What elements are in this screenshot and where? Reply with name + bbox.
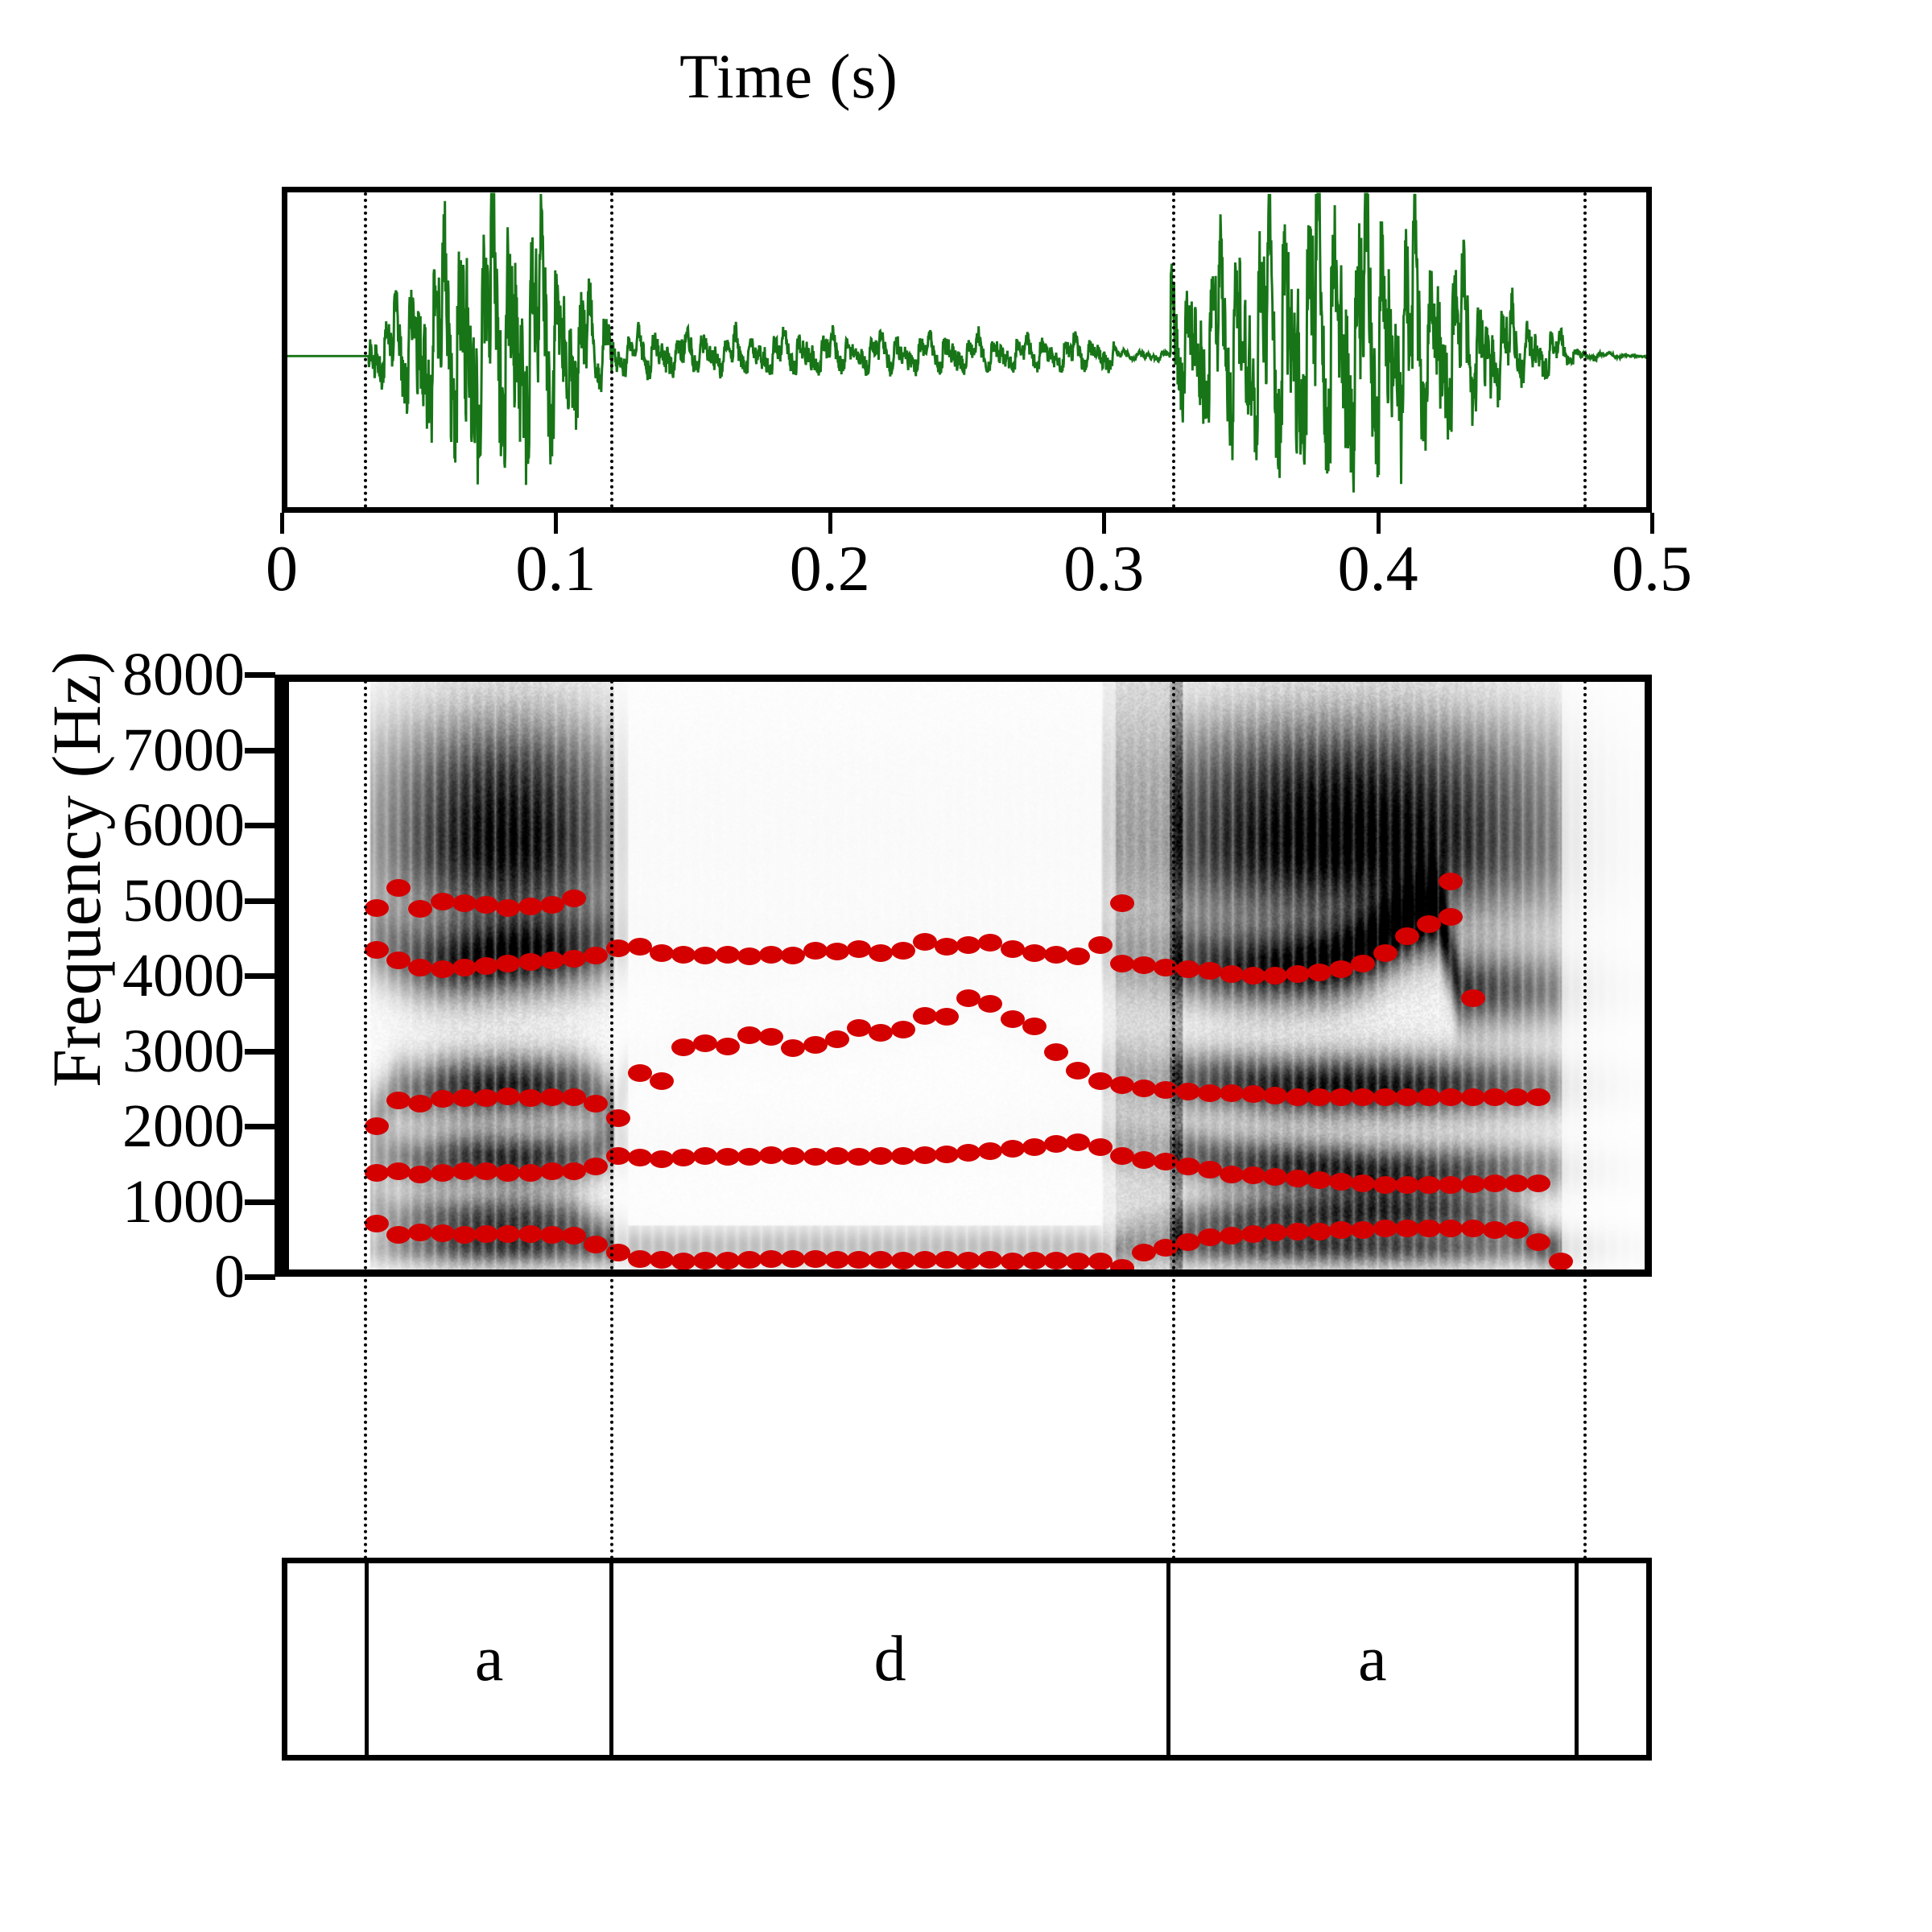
formant-point xyxy=(562,890,586,907)
frequency-tick xyxy=(245,1049,275,1055)
formant-point xyxy=(628,1149,652,1166)
time-tick xyxy=(1650,513,1654,534)
formant-point xyxy=(781,947,805,964)
formant-point xyxy=(1022,1018,1046,1035)
interval-boundary-line xyxy=(610,192,613,508)
formant-point xyxy=(562,1088,586,1106)
formant-point xyxy=(1198,1084,1222,1102)
frequency-tick-label: 5000 xyxy=(122,870,245,931)
formant-point xyxy=(386,952,411,969)
formant-point xyxy=(606,1244,630,1261)
formant-point xyxy=(496,955,520,972)
formant-point xyxy=(1132,1151,1156,1169)
formant-point xyxy=(913,1251,937,1269)
formant-point xyxy=(1263,967,1287,985)
time-tick xyxy=(1377,513,1381,534)
formant-point xyxy=(978,1142,1002,1160)
formant-point xyxy=(671,1253,696,1270)
formant-point xyxy=(1220,1227,1244,1245)
formant-point xyxy=(1066,1133,1090,1151)
formant-point xyxy=(1307,964,1331,981)
formant-point xyxy=(1526,1088,1550,1106)
frequency-axis-rule xyxy=(275,675,282,1277)
formant-point xyxy=(606,1147,630,1165)
waveform-trace xyxy=(287,194,1646,493)
formant-point xyxy=(671,1149,696,1166)
formant-point xyxy=(474,1089,498,1107)
formant-point xyxy=(1066,1253,1090,1270)
formant-point xyxy=(540,1226,564,1244)
formant-point xyxy=(803,1148,828,1166)
formant-point xyxy=(1307,1171,1331,1189)
textgrid-interval-empty[interactable] xyxy=(1579,1563,1646,1755)
formant-point xyxy=(540,952,564,969)
formant-point xyxy=(1001,940,1025,958)
formant-point xyxy=(1176,1083,1200,1100)
formant-point xyxy=(1286,1223,1310,1241)
formant-point xyxy=(431,893,455,910)
formant-point xyxy=(408,1166,432,1183)
formant-point xyxy=(716,946,740,964)
formant-point xyxy=(496,1088,520,1105)
formant-point xyxy=(1439,1220,1463,1237)
formant-point xyxy=(693,1252,717,1269)
formant-point xyxy=(1044,1252,1068,1269)
formant-point xyxy=(584,1095,608,1113)
formant-point xyxy=(474,896,498,914)
formant-point xyxy=(540,1088,564,1106)
formant-point xyxy=(759,946,783,964)
formant-point xyxy=(1022,1138,1046,1156)
formant-point xyxy=(1439,1176,1463,1194)
interval-boundary-line xyxy=(364,680,367,1560)
formant-point xyxy=(365,1215,389,1232)
formant-point xyxy=(1110,1076,1134,1094)
formant-point xyxy=(628,938,652,956)
formant-point xyxy=(1373,1220,1397,1237)
formant-point xyxy=(1439,1088,1463,1106)
formant-point xyxy=(1044,1135,1068,1153)
formant-point xyxy=(1241,1085,1265,1103)
formant-point xyxy=(913,1007,937,1025)
formant-point xyxy=(781,1039,805,1057)
formant-point xyxy=(474,1225,498,1243)
frequency-tick-label: 0 xyxy=(214,1246,245,1307)
formant-point xyxy=(1001,1010,1025,1028)
formant-point xyxy=(913,1146,937,1164)
frequency-tick-label: 7000 xyxy=(122,720,245,781)
formant-point xyxy=(1439,873,1463,890)
formant-point xyxy=(496,899,520,917)
frequency-tick xyxy=(245,823,275,828)
formant-point xyxy=(1286,1170,1310,1187)
formant-point xyxy=(737,1251,762,1269)
formant-point xyxy=(1505,1221,1529,1239)
formant-point xyxy=(496,1225,520,1243)
formant-point xyxy=(869,1251,893,1269)
formant-point xyxy=(1395,1220,1419,1237)
frequency-tick-label: 8000 xyxy=(122,644,245,705)
formant-point xyxy=(935,1008,959,1026)
formant-point xyxy=(606,1109,630,1127)
frequency-tick xyxy=(245,672,275,678)
formant-point xyxy=(1263,1168,1287,1186)
frequency-tick xyxy=(245,1199,275,1205)
formant-point xyxy=(1220,1166,1244,1183)
time-tick-label: 0.4 xyxy=(1338,537,1418,601)
formant-point xyxy=(1373,944,1397,962)
formant-point xyxy=(1549,1253,1573,1270)
interval-boundary-line xyxy=(1172,192,1175,508)
frequency-tick xyxy=(245,973,275,979)
formant-point xyxy=(365,899,389,917)
formant-point xyxy=(650,1072,674,1090)
textgrid-interval-a[interactable]: a xyxy=(1170,1563,1578,1755)
formant-point xyxy=(562,1227,586,1245)
formant-point xyxy=(518,898,543,915)
formant-point xyxy=(431,960,455,978)
time-tick xyxy=(554,513,558,534)
spectrogram-panel[interactable] xyxy=(282,675,1652,1277)
formant-point xyxy=(891,1021,915,1038)
time-axis: 00.10.20.30.40.5 xyxy=(282,513,1652,617)
formant-point xyxy=(474,1162,498,1180)
formant-point xyxy=(518,953,543,971)
formant-point xyxy=(1461,1175,1485,1193)
formant-point xyxy=(1001,1140,1025,1158)
formant-point xyxy=(1373,1088,1397,1106)
formant-point xyxy=(956,1144,980,1162)
frequency-tick-label: 6000 xyxy=(122,795,245,856)
formant-point xyxy=(1044,946,1068,964)
formant-point xyxy=(1395,1088,1419,1106)
time-tick-label: 0 xyxy=(266,537,298,601)
textgrid-interval-empty[interactable] xyxy=(287,1563,369,1755)
formant-point xyxy=(935,1146,959,1163)
formant-point xyxy=(628,1250,652,1268)
formant-point xyxy=(606,939,630,957)
formant-point xyxy=(737,1148,762,1166)
formant-point xyxy=(693,947,717,964)
formant-point xyxy=(1176,1233,1200,1251)
frequency-tick xyxy=(245,898,275,904)
formant-point xyxy=(891,1147,915,1165)
formant-point xyxy=(386,1162,411,1180)
formant-point xyxy=(496,1164,520,1182)
formant-point xyxy=(1110,1147,1134,1165)
formant-point xyxy=(518,1089,543,1107)
formant-point xyxy=(1307,1223,1331,1241)
formant-point xyxy=(540,1162,564,1180)
formant-point xyxy=(1329,1088,1353,1106)
waveform-panel[interactable] xyxy=(282,187,1652,513)
formant-point xyxy=(365,1164,389,1182)
formant-point xyxy=(1439,908,1463,926)
formant-point xyxy=(562,950,586,968)
time-tick xyxy=(1102,513,1106,534)
formant-point xyxy=(716,1038,740,1055)
interval-boundary-line xyxy=(1583,192,1587,508)
formant-point xyxy=(1022,944,1046,962)
formant-point xyxy=(869,1147,893,1165)
frequency-axis: 800070006000500040003000200010000 xyxy=(89,675,282,1277)
formant-point xyxy=(1198,1228,1222,1246)
formant-point xyxy=(1351,1088,1375,1106)
formant-point xyxy=(847,940,871,958)
formant-point xyxy=(803,942,828,960)
formant-point xyxy=(1395,927,1419,945)
formant-point xyxy=(671,946,696,964)
formant-point xyxy=(1395,1176,1419,1194)
formant-point xyxy=(1329,960,1353,978)
formant-point xyxy=(1066,947,1090,965)
formant-point xyxy=(452,894,477,912)
formant-point xyxy=(1505,1088,1529,1106)
formant-point xyxy=(1110,894,1134,912)
formant-point xyxy=(737,1026,762,1044)
formant-point xyxy=(650,944,674,962)
formant-point xyxy=(716,1252,740,1269)
formant-point xyxy=(1263,1224,1287,1241)
formant-point xyxy=(825,1147,849,1165)
interval-boundary-line xyxy=(610,680,613,1560)
time-tick-label: 0.2 xyxy=(790,537,870,601)
formant-point xyxy=(1461,989,1485,1007)
formant-point xyxy=(891,942,915,960)
formant-point xyxy=(1417,1220,1441,1237)
time-tick-label: 0.3 xyxy=(1063,537,1144,601)
time-tick xyxy=(280,513,284,534)
formant-point xyxy=(847,1251,871,1269)
formant-point xyxy=(781,1147,805,1165)
formant-point xyxy=(1066,1062,1090,1080)
formant-point xyxy=(978,1251,1002,1269)
formant-point xyxy=(1526,1174,1550,1192)
formant-point xyxy=(978,934,1002,952)
formant-point xyxy=(759,1250,783,1268)
formant-point xyxy=(1220,965,1244,983)
formant-point xyxy=(847,1019,871,1037)
formant-point xyxy=(1483,1174,1507,1192)
formant-point xyxy=(650,1251,674,1269)
formant-point xyxy=(540,896,564,914)
formant-point xyxy=(1088,1138,1113,1156)
formant-point xyxy=(1307,1088,1331,1106)
formant-point xyxy=(431,1164,455,1182)
formant-point xyxy=(1483,1088,1507,1106)
formant-point xyxy=(869,1024,893,1042)
formant-point xyxy=(693,1034,717,1052)
formant-point xyxy=(781,1250,805,1268)
formant-point xyxy=(1132,1080,1156,1097)
time-tick xyxy=(828,513,832,534)
formant-point xyxy=(1263,1087,1287,1104)
formant-point xyxy=(693,1147,717,1165)
formant-point xyxy=(365,1117,389,1135)
formant-point xyxy=(1088,936,1113,954)
frequency-tick xyxy=(245,1124,275,1129)
textgrid-tier[interactable]: ada xyxy=(282,1558,1652,1761)
formant-point xyxy=(1483,1221,1507,1239)
formant-point xyxy=(956,1252,980,1269)
formant-point xyxy=(869,944,893,962)
formant-point xyxy=(1132,956,1156,974)
formant-point xyxy=(671,1038,696,1056)
formant-point xyxy=(1461,1088,1485,1106)
time-tick-label: 0.5 xyxy=(1612,537,1692,601)
interval-boundary-line xyxy=(1172,680,1175,1560)
formant-point xyxy=(1132,1244,1156,1261)
formant-point xyxy=(825,943,849,960)
waveform-plot xyxy=(287,192,1646,507)
formant-point xyxy=(431,1224,455,1242)
formant-point xyxy=(518,1225,543,1243)
formant-point xyxy=(1198,1161,1222,1179)
formant-point xyxy=(1417,915,1441,933)
formant-point xyxy=(408,900,432,918)
formant-point xyxy=(1044,1043,1068,1061)
formant-point xyxy=(584,947,608,964)
formant-point xyxy=(628,1064,652,1082)
page-title: Time (s) xyxy=(0,40,1755,113)
formant-point xyxy=(935,938,959,956)
formant-point xyxy=(386,1226,411,1244)
formant-point xyxy=(1110,1259,1134,1277)
formant-point xyxy=(452,1226,477,1244)
formant-point xyxy=(650,1150,674,1168)
formant-point xyxy=(1417,1176,1441,1194)
frequency-tick-label: 3000 xyxy=(122,1021,245,1082)
formant-point xyxy=(847,1148,871,1166)
frequency-tick-label: 1000 xyxy=(122,1171,245,1232)
formant-point xyxy=(1241,1225,1265,1243)
formant-point xyxy=(386,879,411,897)
formant-point xyxy=(1176,960,1200,978)
formant-point xyxy=(431,1090,455,1108)
formant-point xyxy=(1241,1166,1265,1184)
interval-boundary-line xyxy=(364,192,367,508)
formant-point xyxy=(452,1162,477,1180)
formant-point xyxy=(1198,962,1222,980)
formant-point xyxy=(913,933,937,951)
formant-point xyxy=(737,947,762,965)
formant-point xyxy=(1329,1221,1353,1239)
time-tick-label: 0.1 xyxy=(515,537,596,601)
formant-point xyxy=(1286,1088,1310,1106)
formant-point xyxy=(825,1030,849,1048)
formant-point xyxy=(978,995,1002,1013)
formant-point xyxy=(1417,1088,1441,1106)
formant-point xyxy=(803,1250,828,1268)
formant-point xyxy=(518,1164,543,1182)
interval-boundary-line xyxy=(1583,680,1587,1560)
formant-point xyxy=(1176,1158,1200,1175)
formant-point xyxy=(1088,1072,1113,1090)
frequency-tick-label: 4000 xyxy=(122,945,245,1006)
formant-point xyxy=(1220,1084,1244,1102)
formant-point xyxy=(803,1036,828,1054)
formant-point xyxy=(562,1162,586,1180)
formant-point xyxy=(759,1028,783,1046)
textgrid-interval-d[interactable]: d xyxy=(613,1563,1170,1755)
formant-point xyxy=(1110,955,1134,972)
formant-point xyxy=(1526,1233,1550,1251)
formant-point xyxy=(408,959,432,976)
formant-point xyxy=(759,1146,783,1164)
formant-point xyxy=(1329,1173,1353,1191)
formant-point xyxy=(825,1251,849,1269)
formant-point xyxy=(408,1095,432,1113)
formant-point xyxy=(452,959,477,976)
textgrid-interval-a[interactable]: a xyxy=(369,1563,613,1755)
formant-point xyxy=(365,941,389,959)
formant-point xyxy=(584,1236,608,1253)
formant-point xyxy=(584,1158,608,1175)
frequency-tick xyxy=(245,1274,275,1280)
formant-point xyxy=(935,1251,959,1269)
formant-overlay xyxy=(289,682,1645,1269)
formant-point xyxy=(386,1092,411,1109)
formant-point xyxy=(408,1224,432,1241)
formant-point xyxy=(956,989,980,1007)
formant-point xyxy=(1351,1221,1375,1239)
formant-point xyxy=(1286,965,1310,983)
formant-point xyxy=(716,1148,740,1166)
formant-point xyxy=(1001,1253,1025,1270)
formant-point xyxy=(891,1252,915,1269)
formant-point xyxy=(1461,1220,1485,1237)
formant-point xyxy=(474,957,498,975)
frequency-axis-label: Frequency (Hz) xyxy=(36,563,117,1175)
formant-point xyxy=(1022,1252,1046,1269)
formant-point xyxy=(1241,967,1265,985)
frequency-tick-label: 2000 xyxy=(122,1096,245,1157)
formant-point xyxy=(956,936,980,954)
formant-point xyxy=(1351,955,1375,972)
frequency-tick xyxy=(245,748,275,753)
formant-point xyxy=(452,1089,477,1107)
formant-point xyxy=(1351,1174,1375,1192)
formant-point xyxy=(1505,1174,1529,1192)
formant-point xyxy=(1373,1176,1397,1194)
formant-point xyxy=(1088,1253,1113,1270)
